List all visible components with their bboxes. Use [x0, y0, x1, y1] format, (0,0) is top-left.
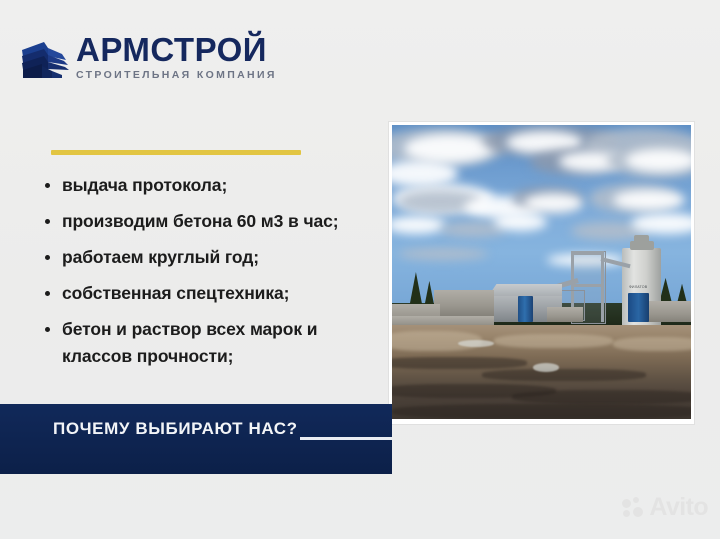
blue-barrel — [518, 296, 533, 322]
avito-wordmark: Avito — [649, 495, 708, 520]
silo-vent — [634, 235, 649, 242]
silo-label: ФИЛАТОВ — [629, 284, 647, 289]
logo-wordmark: АРМСТРОЙ СТРОИТЕЛЬНАЯ КОМПАНИЯ — [76, 32, 326, 82]
cloud-shape — [631, 213, 691, 234]
layered-building-icon — [18, 38, 70, 82]
list-item: выдача протокола; — [38, 172, 383, 199]
ground-streak — [482, 369, 646, 381]
cloud-shape — [392, 216, 446, 234]
cloud-shape — [524, 193, 584, 214]
company-tagline: СТРОИТЕЛЬНАЯ КОМПАНИЯ — [76, 69, 326, 82]
slide-canvas: АРМСТРОЙ СТРОИТЕЛЬНАЯ КОМПАНИЯ выдача пр… — [0, 0, 720, 539]
ground-streak — [392, 357, 527, 369]
banner-heading: ПОЧЕМУ ВЫБИРАЮТ НАС? — [53, 416, 333, 442]
list-item: собственная спецтехника; — [38, 280, 383, 307]
concrete-barrier — [646, 301, 691, 322]
ground-streak — [512, 390, 691, 405]
avito-watermark: Avito — [622, 493, 708, 521]
company-name: АРМСТРОЙ — [76, 32, 326, 68]
concrete-plant-photo: ФИЛАТОВ — [389, 122, 694, 424]
concrete-barrier — [547, 307, 583, 322]
cloud-shape — [494, 213, 548, 231]
banner-divider — [300, 437, 392, 440]
cloud-shape — [404, 134, 494, 163]
cloud-shape — [625, 149, 691, 173]
company-logo: АРМСТРОЙ СТРОИТЕЛЬНАЯ КОМПАНИЯ — [18, 32, 318, 92]
features-list: выдача протокола; производим бетона 60 м… — [38, 172, 383, 379]
blue-tank — [628, 293, 649, 322]
list-item-text: собственная спецтехника; — [62, 283, 289, 303]
ground-streak — [392, 404, 691, 419]
ground-puddle — [533, 363, 560, 372]
list-item-text: работаем круглый год; — [62, 247, 259, 267]
accent-divider — [51, 150, 301, 155]
steel-beam — [571, 251, 604, 255]
concrete-wall — [434, 290, 494, 316]
photo-image: ФИЛАТОВ — [392, 125, 691, 419]
list-item-text: выдача протокола; — [62, 175, 227, 195]
ground-highlight — [494, 334, 614, 349]
avito-dots-icon — [622, 497, 645, 518]
list-item-text: бетон и раствор всех марок и классов про… — [62, 319, 317, 366]
ground-puddle — [458, 340, 494, 347]
steel-beam — [571, 284, 604, 287]
list-item: производим бетона 60 м3 в час; — [38, 208, 383, 235]
cloud-shape — [613, 190, 685, 211]
ground-highlight — [613, 337, 691, 352]
list-item: бетон и раствор всех марок и классов про… — [38, 316, 383, 370]
list-item-text: производим бетона 60 м3 в час; — [62, 211, 339, 231]
list-item: работаем круглый год; — [38, 244, 383, 271]
